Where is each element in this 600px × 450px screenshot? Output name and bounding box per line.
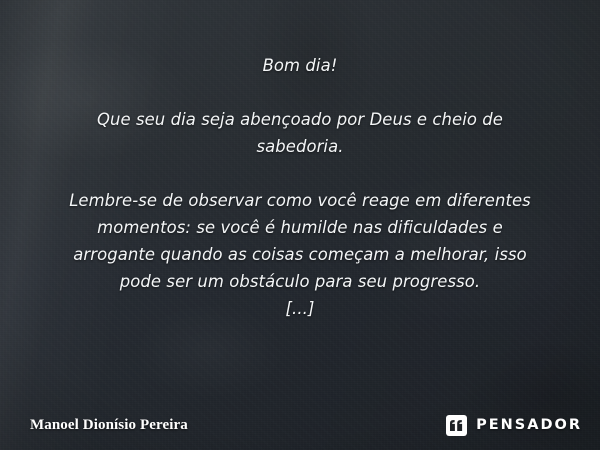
quote-author: Manoel Dionísio Pereira	[30, 416, 188, 434]
quote-card: Bom dia! Que seu dia seja abençoado por …	[0, 0, 600, 450]
quote-text: Bom dia! Que seu dia seja abençoado por …	[24, 52, 576, 322]
pensador-wordmark: PENSADOR	[476, 418, 582, 433]
card-content: Bom dia! Que seu dia seja abençoado por …	[0, 0, 600, 450]
pensador-brand[interactable]: PENSADOR	[446, 415, 582, 436]
quote-mark-icon	[446, 415, 467, 436]
